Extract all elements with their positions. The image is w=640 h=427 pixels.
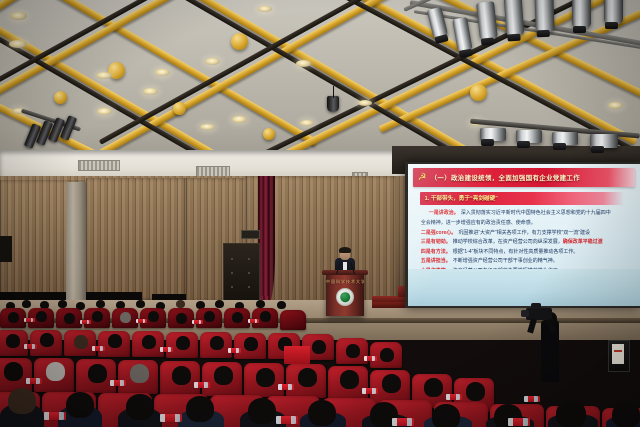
water-bottle bbox=[524, 396, 538, 402]
audience-head bbox=[176, 300, 185, 308]
bottle-cap bbox=[33, 318, 35, 322]
audience-head bbox=[260, 311, 271, 322]
audience-head bbox=[142, 335, 156, 349]
slide-title: （一）政治建设统领，全面加强国有企业党建工作 bbox=[431, 173, 580, 182]
audience-head bbox=[186, 396, 214, 422]
podium-top bbox=[322, 270, 368, 275]
water-bottle bbox=[44, 412, 64, 420]
water-bottle bbox=[364, 356, 375, 361]
slide-bullet: 四是有方法。 根据“1-4”板块不同特点，有针对性高质量推动各项工作。 bbox=[421, 248, 636, 255]
recessed-downlight bbox=[232, 116, 247, 123]
side-monitor-screen bbox=[612, 344, 624, 364]
bullet-lead: 二是强core心。 bbox=[421, 229, 457, 236]
party-emblem-glyph: ☭ bbox=[417, 172, 428, 183]
bottle-cap bbox=[376, 388, 378, 394]
audience-head bbox=[340, 370, 359, 389]
bullet-lead: 一是讲政治。 bbox=[429, 209, 459, 216]
audience-head bbox=[108, 334, 122, 348]
bottle-label bbox=[138, 319, 142, 323]
audience-head bbox=[244, 337, 258, 351]
bottle-label bbox=[250, 319, 254, 323]
audience-head bbox=[210, 336, 224, 350]
water-bottle bbox=[446, 394, 460, 400]
audience-head-gray bbox=[46, 362, 65, 381]
recessed-downlight bbox=[155, 69, 170, 76]
camera-mic bbox=[531, 303, 541, 309]
bottle-cap bbox=[180, 414, 182, 422]
audience-head bbox=[466, 382, 485, 401]
bottle-cap bbox=[528, 418, 530, 426]
spotlight-lens-icon bbox=[482, 38, 493, 44]
audience-head bbox=[312, 340, 326, 354]
bottle-cap bbox=[89, 320, 91, 324]
auditorium-photo: 中国科学技术大学 ☭ （一）政治建设统领，全面加强国有企业党建工作 1. 干部带… bbox=[0, 0, 640, 427]
bottle-label bbox=[397, 418, 407, 426]
stage-spotlight bbox=[552, 132, 578, 145]
monitor-content-line bbox=[614, 350, 622, 352]
audience-head bbox=[6, 334, 20, 348]
ceiling-beam-node bbox=[173, 102, 186, 115]
audience-head bbox=[424, 378, 443, 397]
water-bottle bbox=[160, 347, 171, 352]
bottle-cap bbox=[35, 344, 37, 349]
bottle-label bbox=[82, 320, 86, 324]
slide-subtitle: 1. 干部带头，勇于“亮剑碰硬” bbox=[425, 194, 498, 202]
bottle-cap bbox=[538, 396, 540, 402]
spotlight-lens-icon bbox=[574, 27, 585, 32]
ceiling-beam bbox=[0, 0, 289, 99]
auditorium-door bbox=[223, 243, 260, 305]
recessed-downlight bbox=[205, 58, 220, 65]
bottle-label bbox=[282, 384, 289, 390]
recessed-downlight bbox=[608, 102, 623, 109]
bullet-lead: 四是有方法。 bbox=[421, 248, 451, 255]
bottle-cap bbox=[171, 347, 173, 352]
bullet-emphasis: 确保改革平稳过渡 bbox=[563, 238, 603, 245]
recessed-downlight bbox=[97, 108, 112, 115]
water-bottle bbox=[24, 318, 33, 322]
stage-spotlight bbox=[534, 0, 554, 32]
audience-head bbox=[4, 362, 23, 381]
water-bottle bbox=[278, 384, 292, 390]
water-bottle bbox=[362, 388, 376, 394]
water-bottle bbox=[136, 319, 145, 323]
slide-subtitle-bar: 1. 干部带头，勇于“亮剑碰硬” bbox=[420, 192, 624, 205]
water-bottle bbox=[24, 344, 35, 349]
exit-sign bbox=[241, 230, 260, 239]
audience-area bbox=[0, 300, 640, 427]
spotlight-lens-icon bbox=[460, 50, 472, 57]
stage-spotlight bbox=[504, 0, 525, 37]
bottle-label bbox=[194, 320, 198, 324]
bullet-lead: 五是讲担当。 bbox=[421, 257, 451, 264]
ceiling bbox=[0, 0, 640, 168]
wall-speaker-box bbox=[0, 236, 12, 262]
audience-head bbox=[612, 402, 640, 427]
water-bottle bbox=[194, 382, 208, 388]
slide-bullet: 三是有韧劲。 推动学校综合改革，在资产经营公司向纵深发展， 确保改革平稳过渡 bbox=[421, 238, 636, 245]
audience-head bbox=[176, 336, 190, 350]
bottle-cap bbox=[145, 319, 147, 323]
recessed-downlight bbox=[9, 40, 27, 48]
bullet-lead: 三是有韧劲。 bbox=[421, 238, 451, 245]
audience-head bbox=[96, 300, 105, 308]
bullet-body: 不断增强资产经营公司干部干事创业的精气神。 bbox=[453, 257, 558, 264]
audience-head bbox=[256, 368, 275, 387]
spotlight-lens-icon bbox=[508, 35, 519, 41]
recessed-downlight bbox=[300, 120, 314, 126]
audience-head bbox=[120, 312, 131, 323]
water-bottle bbox=[392, 418, 412, 426]
ceiling-beam-node bbox=[263, 128, 275, 140]
bottle-label bbox=[49, 412, 59, 420]
bottle-label bbox=[95, 346, 100, 351]
bottle-label bbox=[450, 394, 457, 400]
audience-head bbox=[346, 344, 360, 358]
bottle-label bbox=[26, 318, 30, 322]
bottle-cap bbox=[257, 319, 259, 323]
slide-bullet: 二是强core心。 巩固推进“大资产”相关各项工作，有力支撑学校“双一流”建设 bbox=[421, 229, 636, 236]
door-stud bbox=[248, 258, 250, 260]
speaker-hair bbox=[339, 247, 351, 253]
bottle-label bbox=[231, 348, 236, 353]
door-stud bbox=[231, 272, 233, 274]
bottle-label bbox=[165, 414, 175, 422]
bullet-body: 根据“1-4”板块不同特点，有针对性高质量推动各项工作。 bbox=[453, 248, 579, 255]
audience-head bbox=[136, 300, 145, 308]
bottle-cap bbox=[292, 384, 294, 390]
ceiling-beam-node bbox=[470, 84, 487, 101]
audience-head bbox=[8, 388, 36, 414]
stage-spotlight bbox=[604, 0, 623, 24]
door-stud bbox=[248, 286, 250, 288]
audience-head bbox=[40, 333, 54, 347]
ceiling-beam-node bbox=[54, 91, 67, 104]
spotlight-lens-icon bbox=[606, 23, 617, 28]
bottle-label bbox=[281, 416, 291, 424]
stage-curtain-fold bbox=[262, 176, 269, 296]
water-bottle bbox=[228, 348, 239, 353]
bullet-body: 深入贯彻落实习近平新时代中国特色社会主义思想和党的十九届四中 bbox=[461, 209, 611, 216]
bottle-label bbox=[528, 396, 535, 402]
audience-head bbox=[66, 392, 94, 418]
bullet-body: 推动学校综合改革，在资产经营公司向纵深发展， bbox=[453, 238, 563, 245]
audience-head bbox=[204, 311, 215, 322]
audience-head bbox=[298, 368, 317, 387]
bottle-label bbox=[198, 382, 205, 388]
stage-spotlight bbox=[480, 128, 506, 141]
audience-head bbox=[58, 300, 67, 308]
audience-head bbox=[248, 398, 276, 424]
audience-head bbox=[64, 313, 75, 324]
recessed-downlight bbox=[10, 12, 27, 20]
pendant-rod bbox=[333, 86, 334, 98]
water-bottle bbox=[26, 378, 40, 384]
audience-head bbox=[214, 366, 233, 385]
slide-bullet-list: 一是讲政治。 深入贯彻落实习近平新时代中国特色社会主义思想和党的十九届四中 全会… bbox=[421, 209, 636, 276]
recessed-downlight bbox=[296, 60, 311, 67]
bottle-cap bbox=[64, 412, 66, 420]
water-bottle bbox=[160, 414, 180, 422]
theater-seat bbox=[280, 310, 306, 330]
audience-head bbox=[36, 311, 47, 322]
audience-head bbox=[74, 335, 88, 349]
stage-spotlight bbox=[476, 1, 498, 41]
audience-head bbox=[277, 301, 286, 309]
audience-head bbox=[432, 404, 460, 427]
water-bottle bbox=[276, 416, 296, 424]
bullet-body: 巩固推进“大资产”相关各项工作，有力支撑学校“双一流”建设 bbox=[458, 229, 590, 236]
spotlight-lens-icon bbox=[538, 31, 549, 36]
bottle-cap bbox=[124, 380, 126, 386]
bullet-body: 全会精神，进一步增强应有的政治责任感、使命感。 bbox=[421, 219, 536, 226]
audience-head bbox=[88, 364, 107, 383]
audience-head bbox=[92, 311, 103, 322]
water-bottle bbox=[192, 320, 201, 324]
slide-title-banner: ☭ （一）政治建设统领，全面加强国有企业党建工作 bbox=[413, 168, 636, 186]
wall-pillar bbox=[66, 182, 86, 302]
audience-head bbox=[380, 348, 394, 362]
audience-head bbox=[130, 364, 149, 383]
bottle-label bbox=[114, 380, 121, 386]
audience-head bbox=[308, 400, 336, 426]
bottle-label bbox=[30, 378, 37, 384]
cameraman-arm bbox=[527, 318, 537, 333]
ceiling-projector-mount bbox=[327, 96, 339, 112]
bottle-label bbox=[163, 347, 168, 352]
air-vent bbox=[78, 160, 120, 171]
water-bottle bbox=[80, 320, 89, 324]
bottle-cap bbox=[296, 416, 298, 424]
recessed-downlight bbox=[143, 88, 158, 95]
slide-bullet: 一是讲政治。 深入贯彻落实习近平新时代中国特色社会主义思想和党的十九届四中 bbox=[421, 209, 636, 216]
bottle-cap bbox=[40, 378, 42, 384]
slide-bullet: 全会精神，进一步增强应有的政治责任感、使命感。 bbox=[421, 219, 636, 226]
bottle-label bbox=[513, 418, 523, 426]
audience-head bbox=[172, 366, 191, 385]
water-bottle bbox=[508, 418, 528, 426]
bottle-cap bbox=[375, 356, 377, 361]
bottle-cap bbox=[460, 394, 462, 400]
water-bottle bbox=[110, 380, 124, 386]
audience-head bbox=[215, 300, 224, 308]
audience-head bbox=[22, 300, 31, 308]
stage-spotlight bbox=[516, 130, 542, 143]
bottle-cap bbox=[412, 418, 414, 426]
audience-head bbox=[176, 313, 187, 324]
handout-folder bbox=[284, 346, 310, 364]
recessed-downlight bbox=[96, 72, 112, 79]
bottle-cap bbox=[208, 382, 210, 388]
audience-head bbox=[256, 300, 265, 308]
projection-screen: ☭ （一）政治建设统领，全面加强国有企业党建工作 1. 干部带头，勇于“亮剑碰硬… bbox=[408, 164, 640, 306]
stage-spotlight bbox=[572, 0, 591, 28]
audience-head bbox=[556, 400, 586, 427]
bottle-cap bbox=[103, 346, 105, 351]
door-stud bbox=[231, 286, 233, 288]
recessed-downlight bbox=[358, 100, 372, 106]
audience-head bbox=[126, 394, 154, 420]
bottle-cap bbox=[201, 320, 203, 324]
audience-head bbox=[148, 311, 159, 322]
slide-bullet: 五是讲担当。 不断增强资产经营公司干部干事创业的精气神。 bbox=[421, 257, 636, 264]
wall-panel bbox=[86, 178, 186, 300]
bottle-label bbox=[27, 344, 32, 349]
water-bottle bbox=[92, 346, 103, 351]
party-hammer-sickle-icon: ☭ bbox=[417, 172, 428, 183]
ceiling-beam-node bbox=[231, 33, 248, 50]
podium-sign-text: 中国科学技术大学 bbox=[326, 279, 364, 285]
recessed-downlight bbox=[200, 124, 215, 130]
stage-spotlight bbox=[590, 134, 618, 148]
bottle-cap bbox=[239, 348, 241, 353]
audience-head bbox=[382, 374, 401, 393]
recessed-downlight bbox=[258, 6, 272, 12]
audience-head bbox=[8, 312, 19, 323]
door-stud bbox=[231, 258, 233, 260]
door-stud bbox=[248, 272, 250, 274]
presentation-slide: ☭ （一）政治建设统领，全面加强国有企业党建工作 1. 干部带头，勇于“亮剑碰硬… bbox=[408, 164, 640, 306]
audience-head bbox=[232, 312, 243, 323]
bottle-label bbox=[366, 388, 373, 394]
water-bottle bbox=[248, 319, 257, 323]
bottle-label bbox=[367, 356, 372, 361]
camera-lens-icon bbox=[521, 310, 529, 317]
